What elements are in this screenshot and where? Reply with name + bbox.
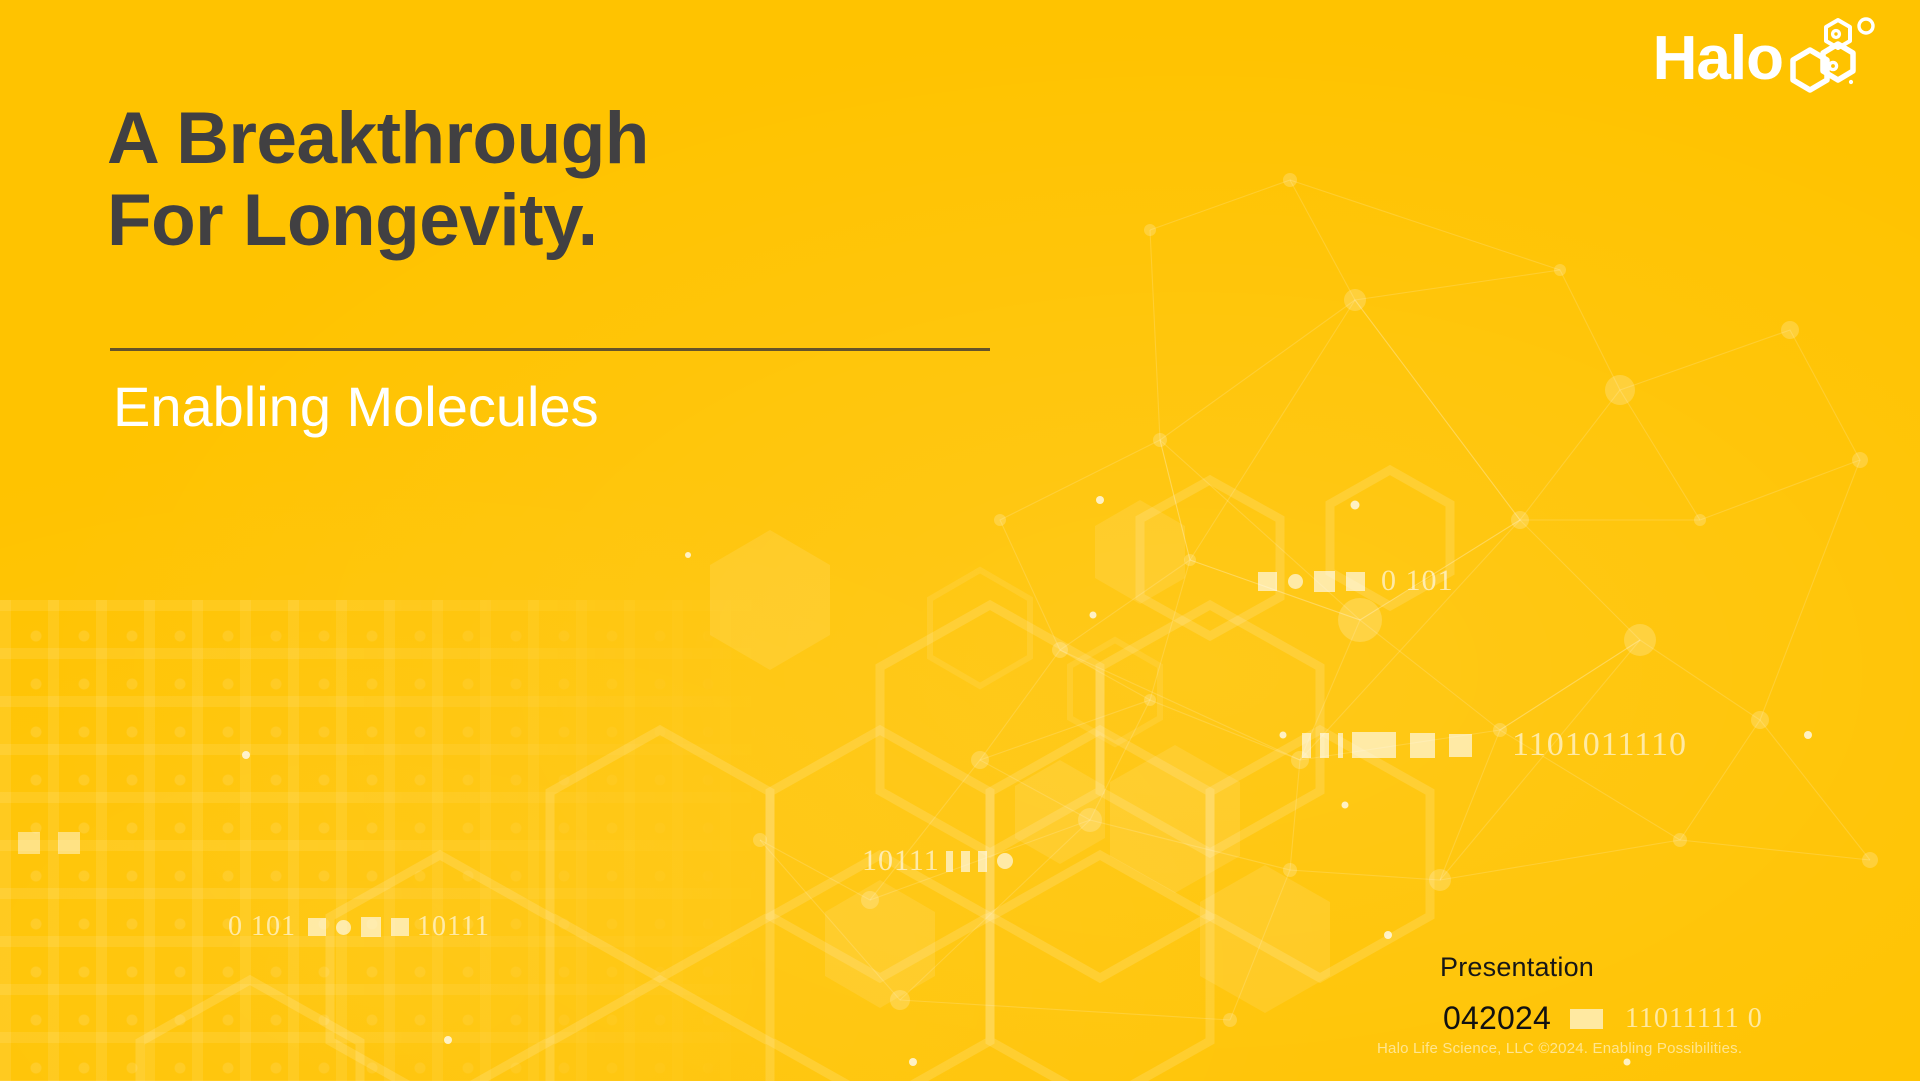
binary-row-center: 10111 [862, 844, 1013, 878]
presentation-slide: A Breakthrough For Longevity. Enabling M… [0, 0, 1920, 1081]
binary-glyphs [946, 851, 1013, 872]
binary-glyphs [1302, 732, 1512, 758]
title-divider [110, 348, 990, 351]
binary-text: 1101011110 [1512, 726, 1687, 764]
square-dot-grid-accent-decoration [0, 600, 780, 1081]
page-title: A Breakthrough For Longevity. [107, 98, 1107, 262]
binary-row-bottom-left: 0 101 10111 [228, 911, 490, 943]
halo-logo[interactable]: Halo [1653, 28, 1875, 101]
accent-square-a [18, 832, 40, 854]
square-dot-grid-decoration [0, 600, 780, 1081]
binary-row-mid-right: 1101011110 [1302, 726, 1687, 764]
binary-text: 10111 [862, 844, 940, 878]
presentation-date: 042024 [1443, 1000, 1551, 1037]
binary-text: 11011111 0 [1625, 1003, 1763, 1035]
hexagon-molecule-icon [1789, 14, 1875, 101]
binary-glyphs [1570, 1009, 1603, 1029]
binary-text: 0 101 [1381, 564, 1454, 598]
binary-row-top-right: 0 101 [1258, 564, 1454, 598]
binary-text-left: 0 101 [228, 911, 296, 943]
page-subtitle: Enabling Molecules [113, 375, 599, 439]
presentation-label: Presentation [1440, 952, 1594, 983]
binary-text-right: 10111 [417, 911, 490, 943]
copyright-notice: Halo Life Science, LLC ©2024. Enabling P… [1377, 1040, 1742, 1057]
binary-glyphs [308, 917, 409, 937]
halo-wordmark: Halo [1653, 28, 1783, 90]
accent-square-b [58, 832, 80, 854]
binary-glyphs [1258, 571, 1381, 592]
binary-row-footer: 11011111 0 [1570, 1003, 1763, 1035]
